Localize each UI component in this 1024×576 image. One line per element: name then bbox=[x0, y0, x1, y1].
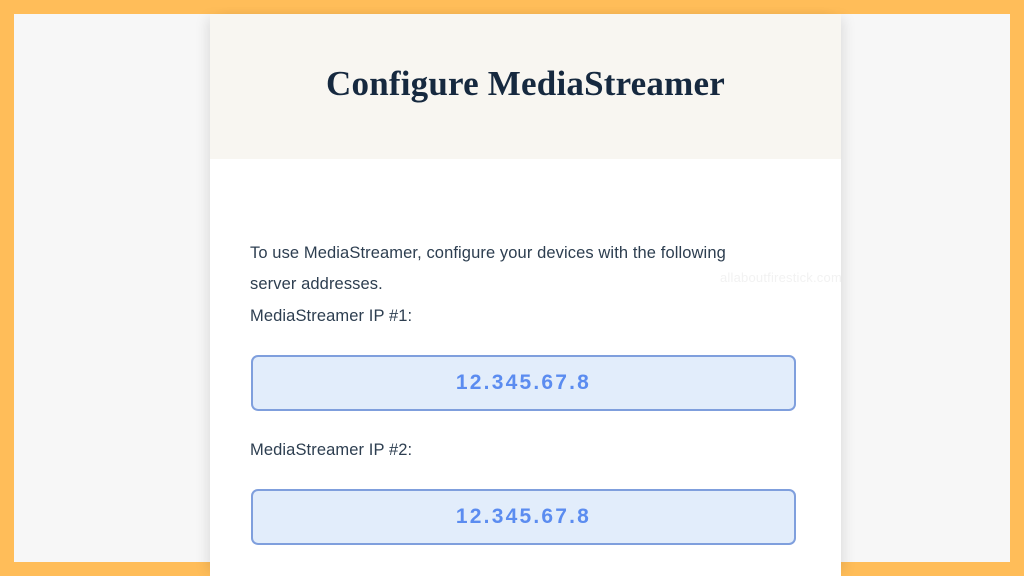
mediastreamer-ip-1-field[interactable]: 12.345.67.8 bbox=[251, 355, 796, 411]
mediastreamer-ip-2-field[interactable]: 12.345.67.8 bbox=[251, 489, 796, 545]
orange-frame-border: Configure MediaStreamer To use MediaStre… bbox=[0, 0, 1024, 576]
page-title: Configure MediaStreamer bbox=[326, 65, 725, 108]
page-background: Configure MediaStreamer To use MediaStre… bbox=[14, 14, 1010, 562]
card-header-band: Configure MediaStreamer bbox=[210, 14, 841, 159]
card-body: To use MediaStreamer, configure your dev… bbox=[210, 159, 841, 576]
mediastreamer-ip-1-label: MediaStreamer IP #1: bbox=[250, 306, 412, 326]
mediastreamer-ip-2-label: MediaStreamer IP #2: bbox=[250, 440, 412, 460]
mediastreamer-ip-1-value: 12.345.67.8 bbox=[456, 371, 591, 395]
configure-mediastreamer-card: Configure MediaStreamer To use MediaStre… bbox=[210, 14, 841, 576]
mediastreamer-ip-2-value: 12.345.67.8 bbox=[456, 505, 591, 529]
intro-paragraph: To use MediaStreamer, configure your dev… bbox=[250, 238, 740, 300]
